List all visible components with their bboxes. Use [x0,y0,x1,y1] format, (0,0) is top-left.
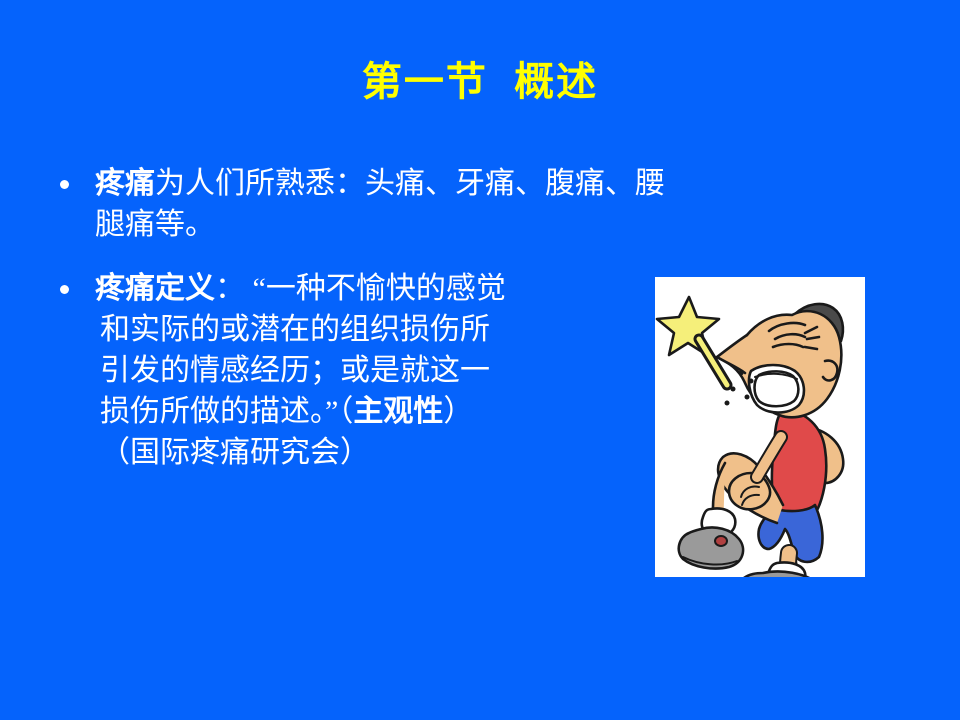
slide-title: 第一节 概述 [0,58,960,106]
bullet-item-2: 疼痛定义： “一种不愉快的感觉 [48,268,668,309]
cartoon-man-in-pain-image [655,277,865,577]
bullet-item-2-text: 疼痛定义： “一种不愉快的感觉 [95,268,668,309]
bullet-dot-icon [60,285,69,294]
definition-line-2-text: 和实际的或潜在的组织损伤所 [100,313,490,346]
bullet-item-1: 疼痛为人们所熟悉：头痛、牙痛、腹痛、腰腿痛等。 [48,163,668,245]
definition-line-3: 引发的情感经历；或是就这一 [48,350,668,391]
definition-line-4-pre: 损伤所做的描述。”（ [100,395,353,428]
definition-source-text: （国际疼痛研究会） [100,436,370,469]
definition-source: （国际疼痛研究会） [48,432,668,473]
bullet-item-1-lead: 疼痛 [95,167,155,200]
definition-line-4-post: ） [443,395,473,428]
slide-body: 疼痛为人们所熟悉：头痛、牙痛、腹痛、腰腿痛等。 疼痛定义： “一种不愉快的感觉 … [48,163,668,473]
bullet-item-1-rest: 为人们所熟悉：头痛、牙痛、腹痛、腰腿痛等。 [95,167,665,241]
slide: 第一节 概述 疼痛为人们所熟悉：头痛、牙痛、腹痛、腰腿痛等。 疼痛定义： “一种… [0,0,960,720]
definition-line-4-emphasis: 主观性 [353,395,443,428]
definition-line-2: 和实际的或潜在的组织损伤所 [48,309,668,350]
body-spacer [48,245,668,268]
bullet-item-1-text: 疼痛为人们所熟悉：头痛、牙痛、腹痛、腰腿痛等。 [95,163,668,245]
bullet-item-2-rest: ： “一种不愉快的感觉 [215,272,506,305]
bullet-dot-icon [60,180,69,189]
cartoon-illustration [655,277,865,577]
bullet-item-2-lead: 疼痛定义 [95,272,215,305]
definition-line-4: 损伤所做的描述。”（主观性） [48,391,668,432]
definition-line-3-text: 引发的情感经历；或是就这一 [100,354,490,387]
